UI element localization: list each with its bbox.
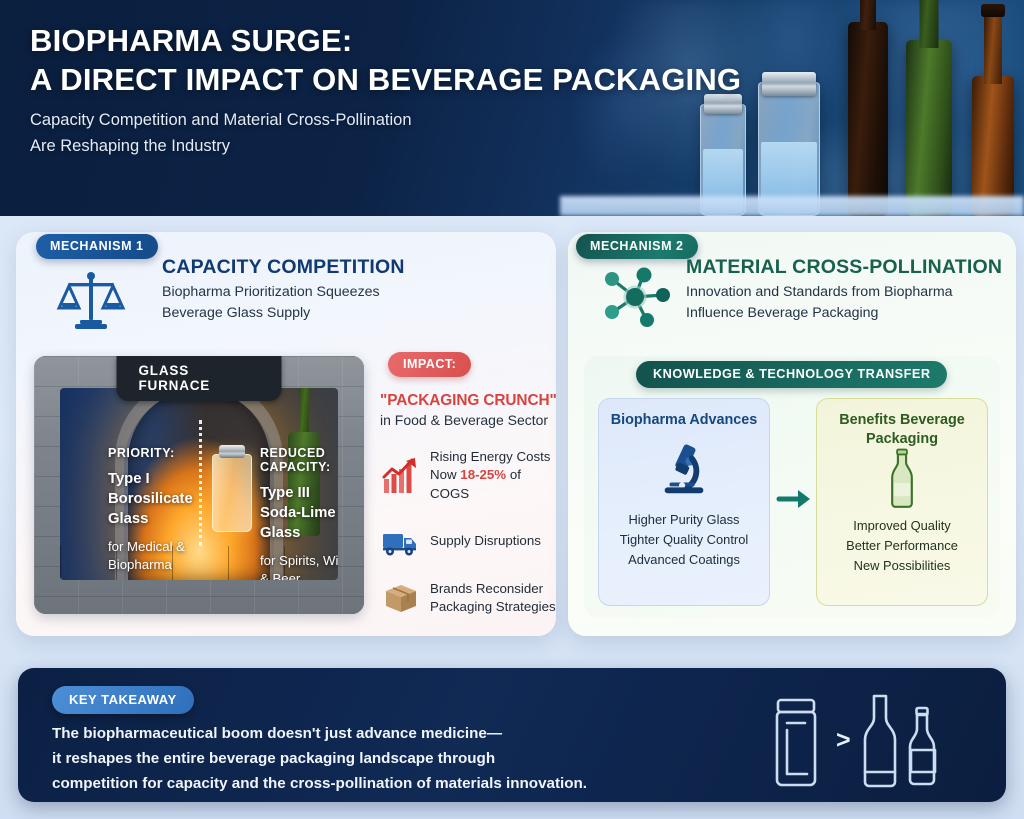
desc-line-1: Biopharma Prioritization Squeezes	[162, 282, 405, 303]
key-takeaway-badge: KEY TAKEAWAY	[52, 686, 194, 714]
list-item: Rising Energy Costs Now 18-25% of COGS	[382, 448, 558, 503]
mechanism-2-header: MATERIAL CROSS-POLLINATION Innovation an…	[686, 256, 1002, 323]
card-title: Benefits Beverage Packaging	[817, 399, 987, 448]
delivery-truck-icon	[382, 522, 420, 560]
mechanism-2-title: MATERIAL CROSS-POLLINATION	[686, 256, 1002, 279]
key-takeaway-icon-group	[756, 694, 946, 792]
card-title-line-1: Benefits Beverage	[825, 411, 979, 430]
card-item-list: Higher Purity Glass Tighter Quality Cont…	[599, 510, 769, 570]
benefits-beverage-card: Benefits Beverage Packaging Improved Qua…	[816, 398, 988, 606]
greater-than-icon: >	[836, 726, 851, 755]
priority-main-line-2: Borosilicate	[108, 489, 208, 509]
reduced-sub: for Spirits, Wine & Beer	[260, 552, 338, 580]
knowledge-transfer-badge: KNOWLEDGE & TECHNOLOGY TRANSFER	[636, 361, 947, 388]
hero-dark-bottle	[848, 22, 888, 216]
title-line-1: BIOPHARMA SURGE:	[30, 23, 352, 58]
list-item-text: Supply Disruptions	[430, 532, 541, 550]
page-subtitle: Capacity Competition and Material Cross-…	[30, 108, 412, 159]
glass-furnace-card: PRIORITY: Type I Borosilicate Glass for …	[34, 356, 364, 614]
card-item-list: Improved Quality Better Performance New …	[817, 516, 987, 576]
list-item-text: Rising Energy Costs Now 18-25% of COGS	[430, 448, 558, 503]
vial-cap-icon	[762, 72, 816, 96]
microscope-icon	[599, 436, 769, 502]
hero-banner: BIOPHARMA SURGE: A DIRECT IMPACT ON BEVE…	[0, 0, 1024, 216]
priority-sub-line-2: Biopharma	[108, 556, 208, 574]
bottle-neck	[860, 0, 876, 30]
key-takeaway-text: The biopharmaceutical boom doesn't just …	[52, 722, 587, 796]
furnace-priority-column: PRIORITY: Type I Borosilicate Glass for …	[108, 446, 208, 574]
takeaway-line-3: competition for capacity and the cross-p…	[52, 772, 587, 797]
list-item: Supply Disruptions	[382, 522, 558, 560]
network-nodes-icon	[600, 266, 674, 328]
hero-green-bottle	[906, 40, 952, 216]
mechanism-2-description: Innovation and Standards from Biopharma …	[686, 282, 1002, 323]
list-item-text: Brands Reconsider Packaging Strategies	[430, 580, 556, 617]
reduced-heading: REDUCED CAPACITY:	[260, 446, 338, 474]
bottle-neck	[299, 388, 309, 436]
reduced-main-line-3: Glass	[260, 523, 338, 543]
impact-headline: "PACKAGING CRUNCH"	[380, 392, 558, 410]
balance-scale-icon	[56, 270, 126, 332]
card-title: Biopharma Advances	[599, 399, 769, 430]
subtitle-line-2: Are Reshaping the Industry	[30, 134, 412, 160]
impact-accent-value: 18-25%	[460, 467, 506, 482]
impact-item-line-1: Brands Reconsider	[430, 580, 556, 598]
vial-cap-icon	[219, 445, 245, 458]
bottle-neck	[984, 14, 1002, 84]
takeaway-line-1: The biopharmaceutical boom doesn't just …	[52, 722, 587, 747]
furnace-vial-icon	[212, 454, 252, 532]
priority-sub-line-1: for Medical &	[108, 538, 208, 556]
green-bottle-icon	[817, 450, 987, 508]
cardboard-box-icon	[382, 579, 420, 617]
impact-item-line-1: Rising Energy Costs	[430, 448, 558, 466]
furnace-label: GLASS FURNACE	[117, 356, 282, 401]
furnace-interior: PRIORITY: Type I Borosilicate Glass for …	[60, 388, 338, 580]
card-item: Advanced Coatings	[599, 550, 769, 570]
card-title-line-2: Packaging	[825, 430, 979, 449]
reduced-main-line-1: Type III	[260, 483, 338, 503]
priority-heading: PRIORITY:	[108, 446, 208, 460]
priority-main-line-1: Type I	[108, 469, 208, 489]
mechanism-2-badge: MECHANISM 2	[576, 234, 698, 259]
desc-line-2: Beverage Glass Supply	[162, 303, 405, 324]
card-item: Better Performance	[817, 536, 987, 556]
arrow-right-icon	[776, 482, 812, 516]
reduced-main-line-2: Soda-Lime	[260, 503, 338, 523]
page-title: BIOPHARMA SURGE: A DIRECT IMPACT ON BEVE…	[30, 22, 741, 100]
reduced-sub-line-1: for Spirits, Wine	[260, 552, 338, 570]
hero-amber-bottle	[972, 76, 1014, 216]
list-item: Brands Reconsider Packaging Strategies	[382, 579, 558, 617]
desc-line-2: Influence Beverage Packaging	[686, 303, 1002, 324]
impact-headline-group: "PACKAGING CRUNCH" in Food & Beverage Se…	[380, 392, 558, 428]
rising-bar-chart-icon	[382, 457, 420, 495]
priority-main-line-3: Glass	[108, 509, 208, 529]
biopharma-advances-card: Biopharma Advances Higher Purity Glass T…	[598, 398, 770, 606]
takeaway-line-2: it reshapes the entire beverage packagin…	[52, 747, 587, 772]
hero-counter-surface	[560, 196, 1024, 216]
mechanism-1-header: CAPACITY COMPETITION Biopharma Prioritiz…	[162, 256, 405, 323]
title-line-2: A DIRECT IMPACT ON BEVERAGE PACKAGING	[30, 61, 741, 100]
hero-bottle-photo	[700, 0, 1024, 216]
impact-list: Rising Energy Costs Now 18-25% of COGS	[382, 448, 558, 636]
bottle-neck	[920, 0, 939, 48]
impact-badge: IMPACT:	[388, 352, 471, 377]
impact-subhead: in Food & Beverage Sector	[380, 412, 558, 428]
card-item: Higher Purity Glass	[599, 510, 769, 530]
card-item: Improved Quality	[817, 516, 987, 536]
bottle-cap-icon	[981, 4, 1005, 17]
mechanism-1-badge: MECHANISM 1	[36, 234, 158, 259]
impact-item-line-1: Supply Disruptions	[430, 532, 541, 550]
priority-sub: for Medical & Biopharma	[108, 538, 208, 574]
impact-item-line-2: Now 18-25% of COGS	[430, 466, 558, 503]
impact-item-line-2: Packaging Strategies	[430, 598, 556, 616]
infographic-page: BIOPHARMA SURGE: A DIRECT IMPACT ON BEVE…	[0, 0, 1024, 819]
reduced-main: Type III Soda-Lime Glass	[260, 483, 338, 543]
priority-main: Type I Borosilicate Glass	[108, 469, 208, 529]
card-item: Tighter Quality Control	[599, 530, 769, 550]
mechanism-1-description: Biopharma Prioritization Squeezes Bevera…	[162, 282, 405, 323]
card-item: New Possibilities	[817, 556, 987, 576]
furnace-reduced-column: REDUCED CAPACITY: Type III Soda-Lime Gla…	[260, 446, 338, 580]
reduced-sub-line-2: & Beer	[260, 570, 338, 580]
subtitle-line-1: Capacity Competition and Material Cross-…	[30, 108, 412, 134]
mechanism-1-title: CAPACITY COMPETITION	[162, 256, 405, 279]
desc-line-1: Innovation and Standards from Biopharma	[686, 282, 1002, 303]
